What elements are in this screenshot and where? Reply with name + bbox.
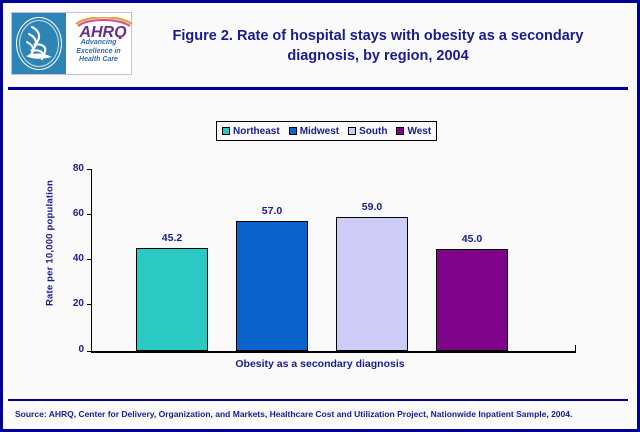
ahrq-logo: AHRQ Advancing Excellence in Health Care: [66, 13, 131, 74]
hhs-seal-icon: [12, 13, 66, 74]
figure-header: AHRQ Advancing Excellence in Health Care…: [3, 3, 637, 86]
bar-value-northeast: 45.2: [142, 232, 202, 244]
y-tick-label-20: 20: [58, 298, 84, 309]
chart-panel: Northeast Midwest South West Rate per 10…: [8, 93, 632, 393]
bar-midwest[interactable]: [236, 221, 308, 351]
figure-title: Figure 2. Rate of hospital stays with ob…: [143, 26, 613, 66]
bar-south[interactable]: [336, 217, 408, 351]
bar-west[interactable]: [436, 249, 508, 351]
bar-northeast[interactable]: [136, 248, 208, 351]
footer-divider: [8, 399, 628, 401]
y-axis-title: Rate per 10,000 population: [45, 153, 56, 333]
bar-value-south: 59.0: [342, 201, 402, 213]
y-tick-label-0: 0: [58, 344, 84, 355]
x-axis-line: [91, 351, 576, 353]
x-axis-title: Obesity as a secondary diagnosis: [8, 358, 632, 370]
y-tick-label-80: 80: [58, 163, 84, 174]
ahrq-tagline: Advancing Excellence in Health Care: [66, 39, 131, 65]
figure-page: AHRQ Advancing Excellence in Health Care…: [0, 0, 640, 432]
bar-value-west: 45.0: [442, 233, 502, 245]
bar-value-midwest: 57.0: [242, 205, 302, 217]
ahrq-tagline-line-1: Advancing: [66, 39, 131, 48]
y-tick-label-60: 60: [58, 208, 84, 219]
x-axis-end-tick: [575, 345, 576, 352]
ahrq-wordmark-text: AHRQ: [78, 24, 127, 39]
ahrq-tagline-line-3: Health Care: [66, 56, 131, 65]
y-axis-line: [91, 169, 92, 353]
header-divider: [8, 87, 628, 90]
source-note: Source: AHRQ, Center for Delivery, Organ…: [15, 409, 630, 419]
ahrq-tagline-line-2: Excellence in: [66, 48, 131, 57]
y-tick-label-40: 40: [58, 253, 84, 264]
agency-logo: AHRQ Advancing Excellence in Health Care: [11, 12, 132, 75]
plot-area: Rate per 10,000 population 80 60 40 20 0…: [8, 93, 632, 393]
ahrq-wordmark-icon: AHRQ: [66, 17, 140, 39]
